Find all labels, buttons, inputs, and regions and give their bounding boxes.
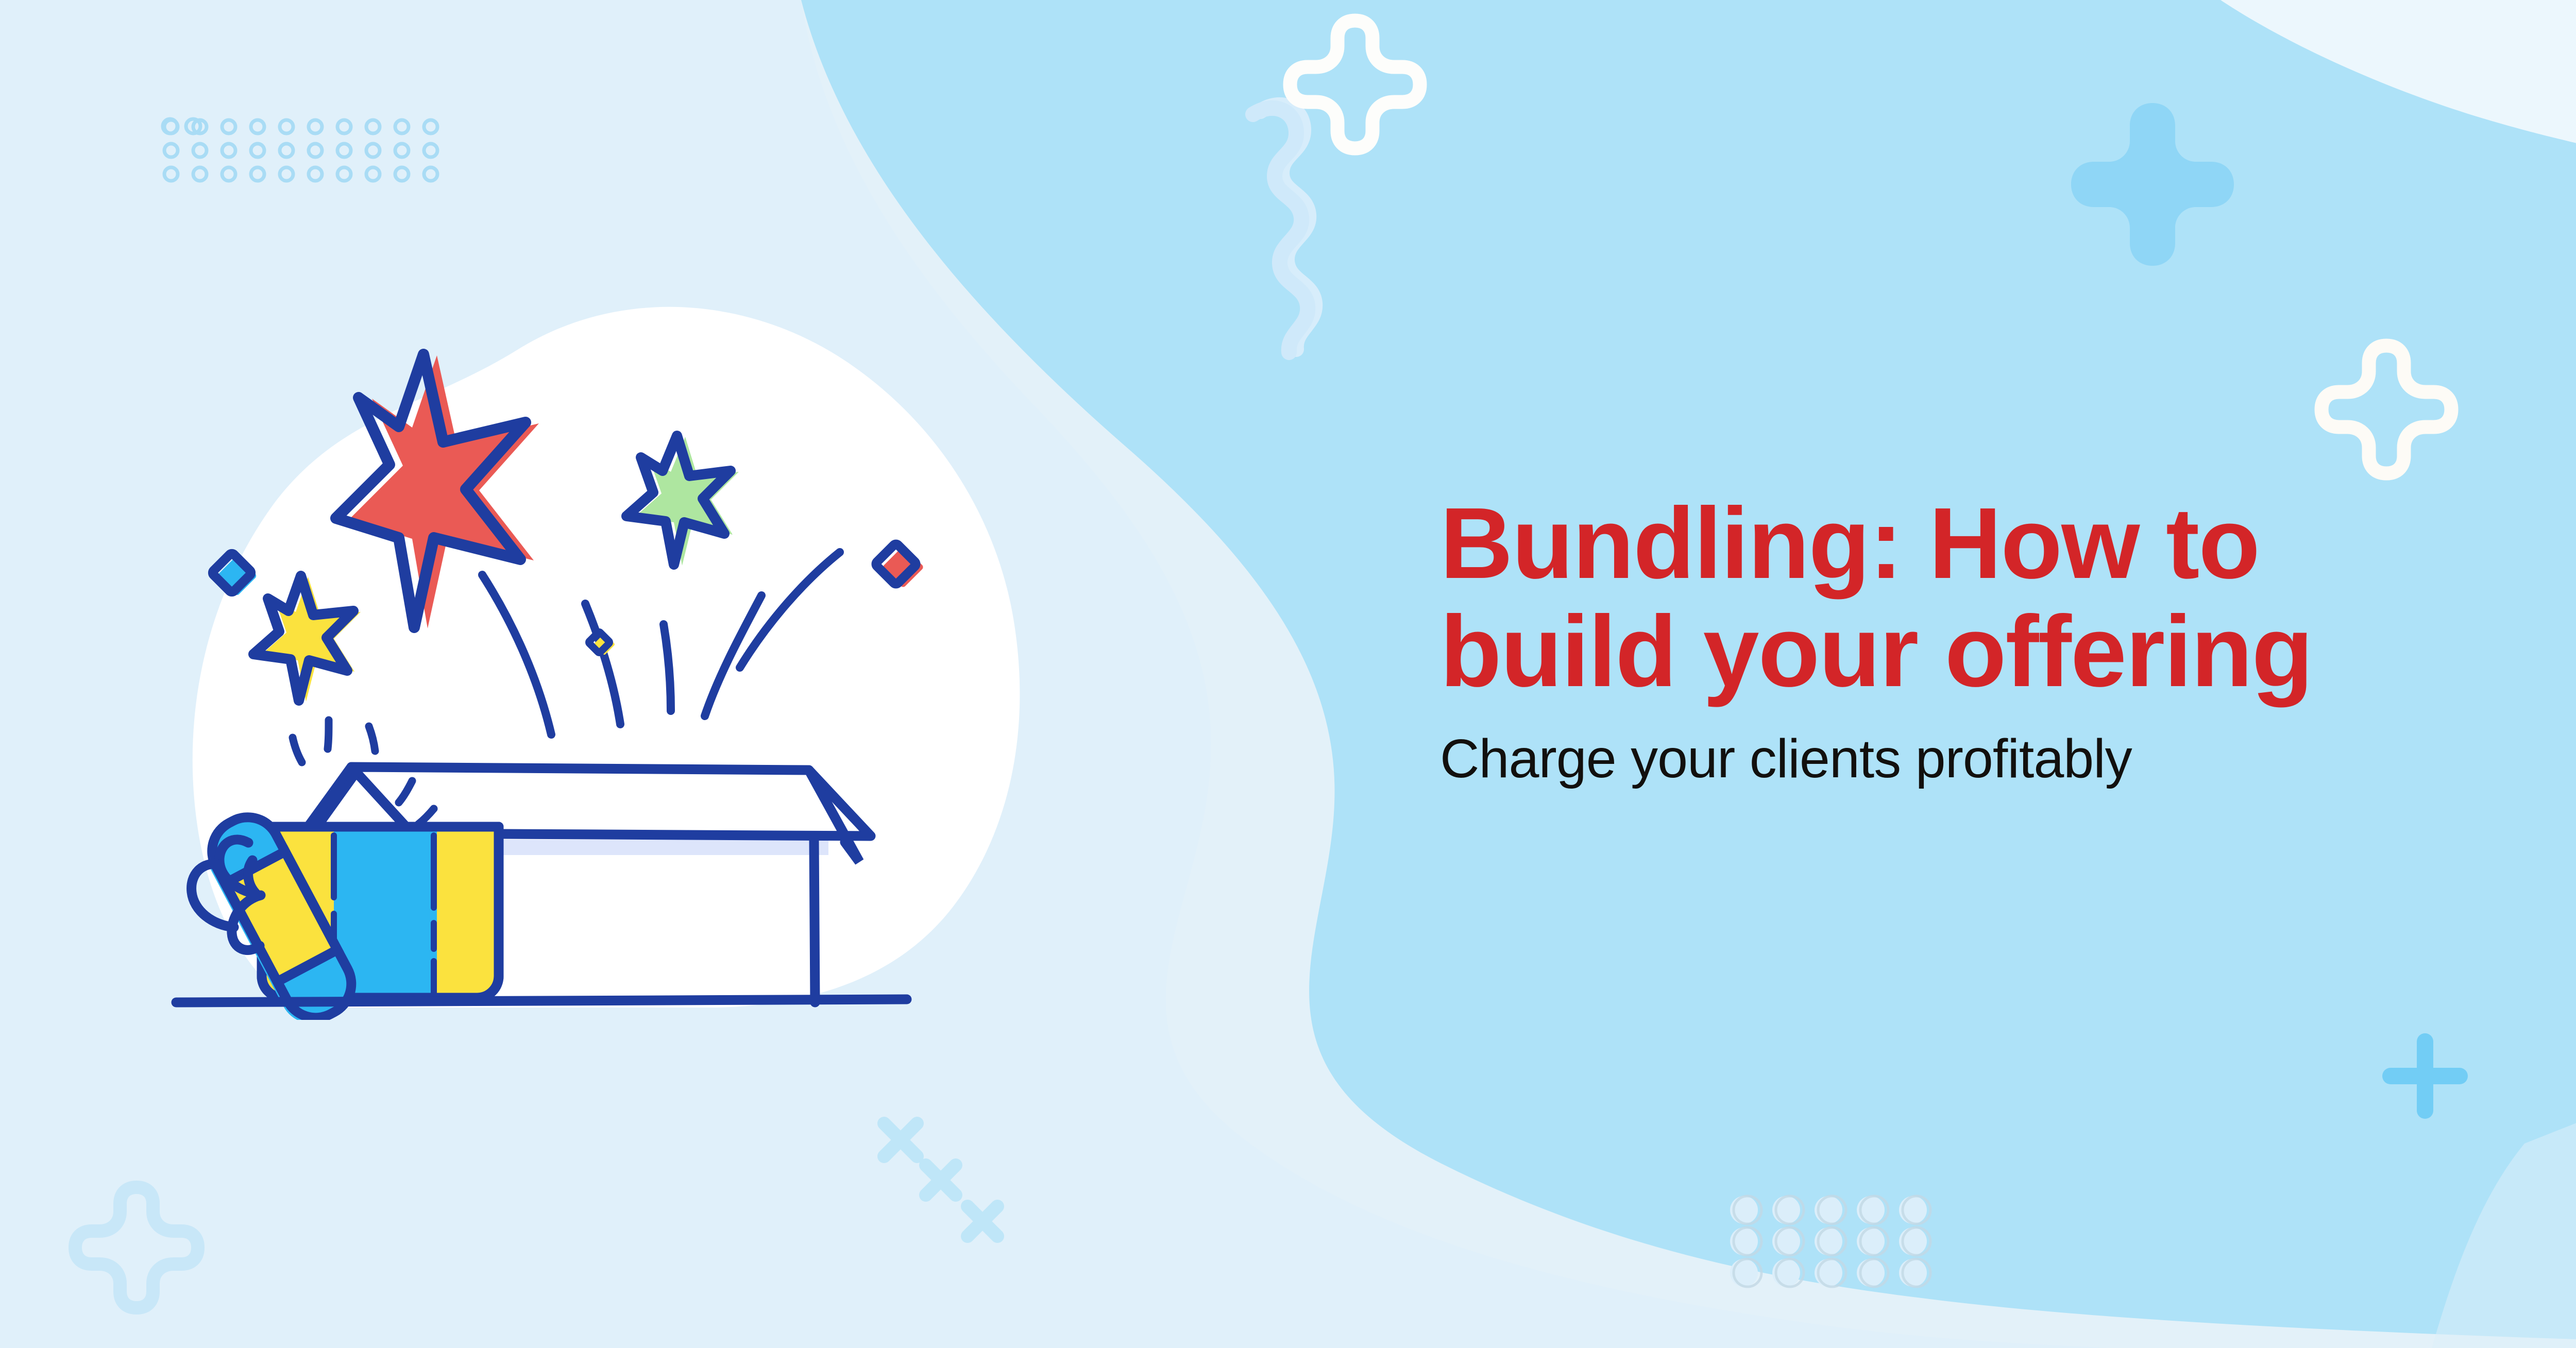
ground-line	[176, 999, 907, 1002]
open-gift-box-illustration	[170, 288, 1190, 1020]
box-right-wall	[814, 840, 815, 1002]
page-title: Bundling: How to build your offering	[1440, 489, 2470, 705]
text-block: Bundling: How to build your offering Cha…	[1440, 489, 2470, 791]
page-subtitle: Charge your clients profitably	[1440, 728, 2470, 791]
slide-canvas: Bundling: How to build your offering Cha…	[0, 0, 2576, 1348]
